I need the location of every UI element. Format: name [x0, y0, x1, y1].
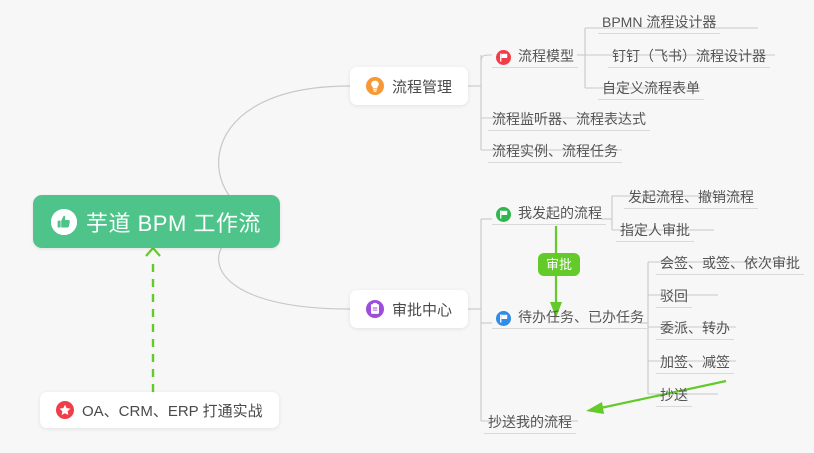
annotation-chip-approval: 审批: [538, 253, 580, 276]
node-label: 抄送: [660, 387, 688, 404]
node-label: 待办任务、已办任务: [518, 309, 644, 326]
flag-icon: [496, 50, 511, 65]
node-delegate-transfer[interactable]: 委派、转办: [656, 314, 734, 340]
node-cc-to-me[interactable]: 抄送我的流程: [484, 408, 576, 434]
node-launch-cancel-process[interactable]: 发起流程、撤销流程: [624, 183, 758, 209]
node-bpmn-designer[interactable]: BPMN 流程设计器: [598, 8, 720, 34]
node-label: 我发起的流程: [518, 205, 602, 222]
node-dingtalk-designer[interactable]: 钉钉（飞书）流程设计器: [608, 42, 770, 68]
node-my-started-process[interactable]: 我发起的流程: [492, 199, 606, 225]
lightbulb-icon: [366, 77, 384, 95]
node-process-listener[interactable]: 流程监听器、流程表达式: [488, 105, 650, 131]
footer-node-label: OA、CRM、ERP 打通实战: [82, 400, 263, 421]
node-assignee-approval[interactable]: 指定人审批: [616, 216, 694, 242]
branch-process-management[interactable]: 流程管理: [350, 67, 468, 105]
node-label: 流程模型: [518, 48, 574, 65]
node-label: 加签、减签: [660, 354, 730, 371]
node-reject[interactable]: 驳回: [656, 282, 692, 308]
node-label: BPMN 流程设计器: [602, 14, 716, 31]
footer-node-oa-crm-erp[interactable]: OA、CRM、ERP 打通实战: [40, 392, 279, 428]
node-countersign[interactable]: 会签、或签、依次审批: [656, 249, 804, 275]
node-label: 驳回: [660, 288, 688, 305]
node-label: 流程实例、流程任务: [492, 143, 618, 160]
link-pm-child-model: [481, 55, 492, 62]
branch-label: 流程管理: [392, 76, 452, 97]
node-cc[interactable]: 抄送: [656, 381, 692, 407]
node-process-instance[interactable]: 流程实例、流程任务: [488, 137, 622, 163]
node-label: 抄送我的流程: [488, 414, 572, 431]
thumbs-up-icon: [51, 209, 77, 235]
node-process-model[interactable]: 流程模型: [492, 42, 578, 68]
node-todo-done-tasks[interactable]: 待办任务、已办任务: [492, 303, 648, 329]
node-label: 发起流程、撤销流程: [628, 189, 754, 206]
node-label: 会签、或签、依次审批: [660, 255, 800, 272]
annotation-arrow-footer: [146, 248, 160, 392]
branch-label: 审批中心: [392, 299, 452, 320]
star-icon: [56, 401, 74, 419]
clipboard-icon: [366, 300, 384, 318]
root-node[interactable]: 芋道 BPM 工作流: [33, 195, 280, 248]
flag-icon: [496, 311, 511, 326]
node-label: 自定义流程表单: [602, 80, 700, 97]
annotation-label: 审批: [546, 257, 572, 272]
root-label: 芋道 BPM 工作流: [86, 206, 261, 238]
node-custom-form[interactable]: 自定义流程表单: [598, 74, 704, 100]
node-add-remove-sign[interactable]: 加签、减签: [656, 348, 734, 374]
node-label: 流程监听器、流程表达式: [492, 111, 646, 128]
mindmap-canvas: 芋道 BPM 工作流 流程管理 流程模型 BPMN 流程设计器 钉钉（飞书）流程…: [0, 0, 814, 453]
node-label: 钉钉（飞书）流程设计器: [612, 48, 766, 65]
node-label: 委派、转办: [660, 320, 730, 337]
flag-icon: [496, 207, 511, 222]
node-label: 指定人审批: [620, 222, 690, 239]
branch-approval-center[interactable]: 审批中心: [350, 290, 468, 328]
